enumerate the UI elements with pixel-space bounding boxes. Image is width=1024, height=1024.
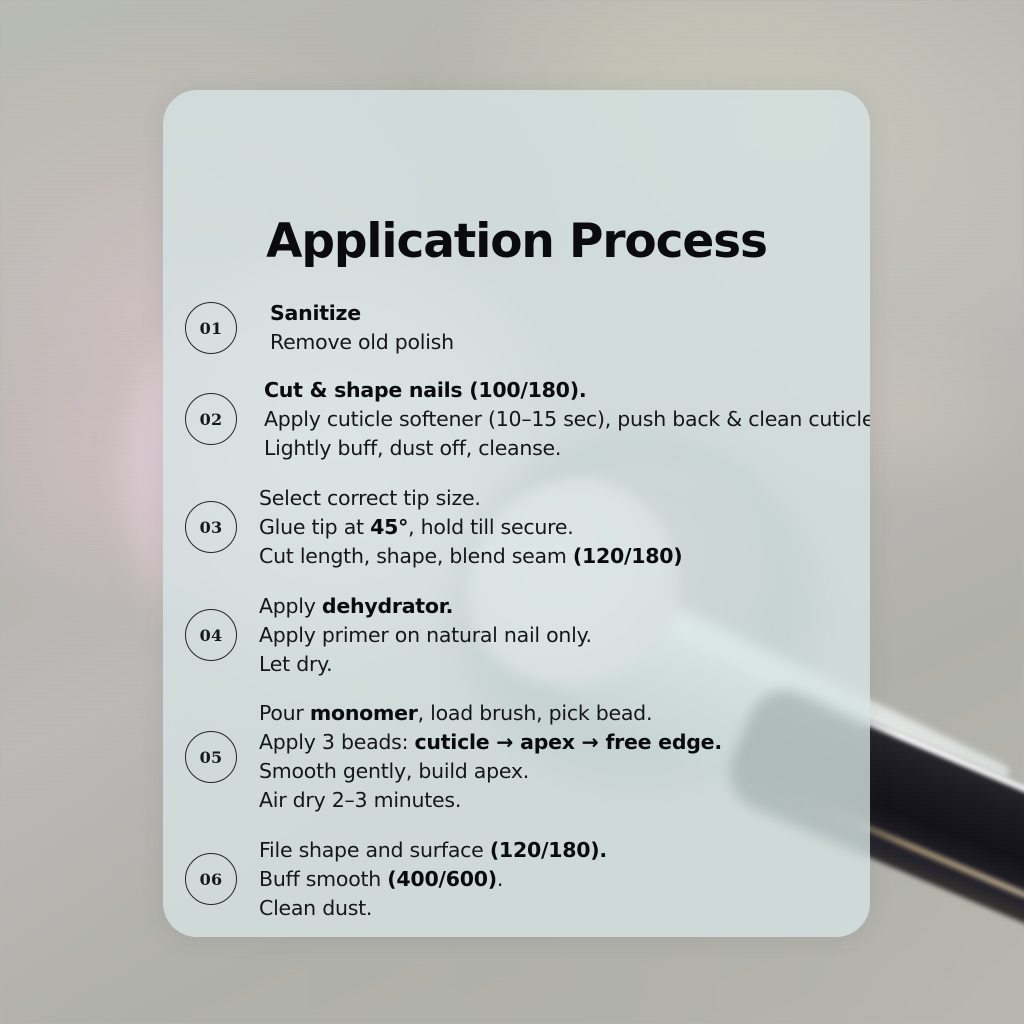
step-text-block: File shape and surface (120/180).Buff sm… bbox=[259, 836, 870, 923]
step-text-emphasis: cuticle → apex → free edge. bbox=[415, 730, 722, 754]
step-text-line: Lightly buff, dust off, cleanse. bbox=[264, 434, 870, 463]
step-text-emphasis: dehydrator. bbox=[322, 594, 453, 618]
step-text-run: Cut length, shape, blend seam bbox=[259, 544, 573, 568]
step-number-column: 03 bbox=[163, 501, 259, 553]
step-number-column: 06 bbox=[163, 853, 259, 905]
step-number-column: 05 bbox=[163, 731, 259, 783]
step-text-line: Glue tip at 45°, hold till secure. bbox=[259, 513, 856, 542]
step-spacer bbox=[163, 572, 870, 590]
step-list: 01SanitizeRemove old polish02Cut & shape… bbox=[163, 296, 870, 937]
step-number-badge: 06 bbox=[185, 853, 237, 905]
step-number-badge: 04 bbox=[185, 609, 237, 661]
step-spacer bbox=[163, 464, 870, 482]
step-number-badge: 01 bbox=[185, 302, 237, 354]
step-text-run: Buff smooth bbox=[259, 867, 387, 891]
step-text-line: Buff smooth (400/600). bbox=[259, 865, 856, 894]
step-text-line: Pour monomer, load brush, pick bead. bbox=[259, 699, 856, 728]
step-row: 03Select correct tip size.Glue tip at 45… bbox=[163, 482, 870, 572]
step-text-run: Apply 3 beads: bbox=[259, 730, 415, 754]
step-row: 04Apply dehydrator.Apply primer on natur… bbox=[163, 590, 870, 680]
step-text-line: Select correct tip size. bbox=[259, 484, 856, 513]
step-text-emphasis: 45° bbox=[370, 515, 408, 539]
step-number-badge: 02 bbox=[185, 393, 237, 445]
step-text-run: Smooth gently, build apex. bbox=[259, 759, 529, 783]
step-text-run: Let dry. bbox=[259, 652, 332, 676]
step-text-emphasis: (120/180). bbox=[490, 838, 607, 862]
step-text-run: Air dry 2–3 minutes. bbox=[259, 788, 461, 812]
step-text-emphasis: (400/600) bbox=[387, 867, 497, 891]
step-row: 02Cut & shape nails (100/180).Apply cuti… bbox=[163, 374, 870, 464]
instruction-card: Application Process 01SanitizeRemove old… bbox=[163, 90, 870, 937]
step-text-line: Sanitize bbox=[270, 299, 867, 328]
step-row: 01SanitizeRemove old polish bbox=[163, 296, 870, 360]
step-number-column: 04 bbox=[163, 609, 259, 661]
step-number-column: 01 bbox=[163, 302, 259, 354]
step-number-badge: 03 bbox=[185, 501, 237, 553]
step-text-run: , hold till secure. bbox=[408, 515, 573, 539]
step-text-line: Air dry 2–3 minutes. bbox=[259, 786, 856, 815]
step-text-block: Pour monomer, load brush, pick bead.Appl… bbox=[259, 699, 870, 815]
step-text-line: Clean dust. bbox=[259, 894, 856, 923]
step-spacer bbox=[163, 360, 870, 374]
step-text-run: Glue tip at bbox=[259, 515, 370, 539]
step-text-run: Pour bbox=[259, 701, 310, 725]
step-text-emphasis: (120/180) bbox=[573, 544, 683, 568]
step-text-block: Select correct tip size.Glue tip at 45°,… bbox=[259, 484, 870, 571]
step-text-line: Apply dehydrator. bbox=[259, 592, 856, 621]
step-spacer bbox=[163, 924, 870, 937]
step-text-emphasis: monomer bbox=[310, 701, 418, 725]
step-text-run: Apply cuticle softener (10–15 sec), push… bbox=[264, 407, 870, 431]
step-text-line: Apply 3 beads: cuticle → apex → free edg… bbox=[259, 728, 856, 757]
step-text-run: Apply bbox=[259, 594, 322, 618]
step-text-run: Select correct tip size. bbox=[259, 486, 481, 510]
step-text-block: SanitizeRemove old polish bbox=[270, 299, 870, 357]
step-text-block: Apply dehydrator.Apply primer on natural… bbox=[259, 592, 870, 679]
step-text-run: . bbox=[497, 867, 503, 891]
step-text-line: Cut & shape nails (100/180). bbox=[264, 376, 870, 405]
step-text-line: Remove old polish bbox=[270, 328, 867, 357]
step-number-badge: 05 bbox=[185, 731, 237, 783]
page-title: Application Process bbox=[163, 218, 870, 265]
step-text-line: Apply primer on natural nail only. bbox=[259, 621, 856, 650]
step-text-run: Remove old polish bbox=[270, 330, 454, 354]
step-spacer bbox=[163, 816, 870, 834]
step-text-line: Apply cuticle softener (10–15 sec), push… bbox=[264, 405, 870, 434]
poster-canvas: ELEMENTS Application Process 01SanitizeR… bbox=[0, 0, 1024, 1024]
step-text-emphasis: Sanitize bbox=[270, 301, 361, 325]
step-text-line: Cut length, shape, blend seam (120/180) bbox=[259, 542, 856, 571]
step-text-run: Lightly buff, dust off, cleanse. bbox=[264, 436, 561, 460]
step-text-line: File shape and surface (120/180). bbox=[259, 836, 856, 865]
step-text-line: Let dry. bbox=[259, 650, 856, 679]
step-row: 06File shape and surface (120/180).Buff … bbox=[163, 834, 870, 924]
step-row: 05Pour monomer, load brush, pick bead.Ap… bbox=[163, 698, 870, 816]
step-text-block: Cut & shape nails (100/180).Apply cuticl… bbox=[264, 376, 870, 463]
step-text-line: Smooth gently, build apex. bbox=[259, 757, 856, 786]
step-text-run: Apply primer on natural nail only. bbox=[259, 623, 592, 647]
step-text-run: , load brush, pick bead. bbox=[418, 701, 653, 725]
step-text-run: Clean dust. bbox=[259, 896, 372, 920]
step-spacer bbox=[163, 680, 870, 698]
step-text-emphasis: Cut & shape nails (100/180). bbox=[264, 378, 586, 402]
step-text-run: File shape and surface bbox=[259, 838, 490, 862]
step-number-column: 02 bbox=[163, 393, 259, 445]
